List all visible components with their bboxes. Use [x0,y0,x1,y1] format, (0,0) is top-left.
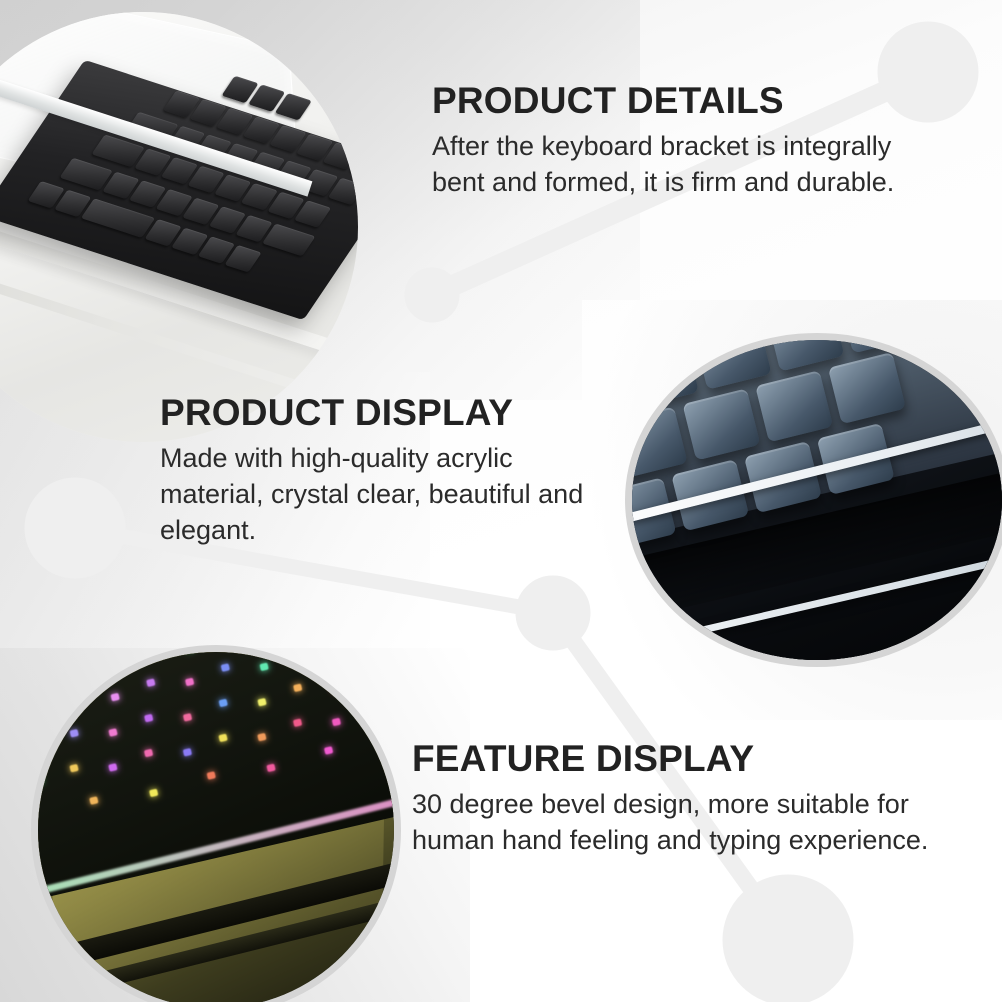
section-product-display: PRODUCT DISPLAY Made with high-quality a… [160,392,620,549]
rgb-backlit-keyboard-photo [38,652,394,1002]
product-infographic-page: PRODUCT DETAILS After the keyboard brack… [0,0,1002,1002]
acrylic-keycap-closeup-photo [632,340,1002,660]
keyboard-on-acrylic-stand-photo [0,12,358,442]
product-display-heading: PRODUCT DISPLAY [160,392,620,434]
feature-display-body: 30 degree bevel design, more suitable fo… [412,786,932,858]
product-details-body: After the keyboard bracket is integrally… [432,128,932,200]
section-feature-display: FEATURE DISPLAY 30 degree bevel design, … [412,738,932,858]
feature-display-heading: FEATURE DISPLAY [412,738,932,780]
product-display-body: Made with high-quality acrylic material,… [160,440,620,549]
product-details-heading: PRODUCT DETAILS [432,80,932,122]
section-product-details: PRODUCT DETAILS After the keyboard brack… [432,80,932,200]
